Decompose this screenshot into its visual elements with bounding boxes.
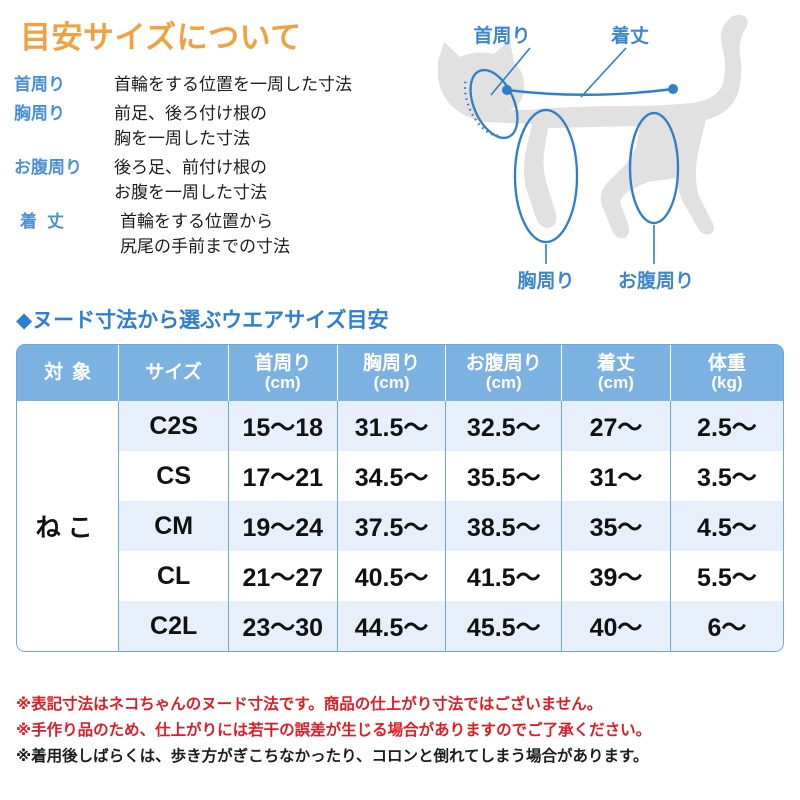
cell-weight: 6〜 [670,601,783,651]
cell-size: CM [119,501,229,551]
cell-neck: 17〜21 [228,451,337,501]
column-header-belly: お腹周り (cm) [446,345,562,401]
column-header-neck: 首周り (cm) [228,345,337,401]
column-header-weight-label: 体重 [708,353,746,374]
cell-length: 27〜 [562,401,671,451]
cell-length: 39〜 [562,551,671,601]
definition-desc-length: 首輪をする位置から 尻尾の手前までの寸法 [120,209,290,259]
cell-belly: 45.5〜 [446,601,562,651]
footnotes: ※表記寸法はネコちゃんのヌード寸法です。商品の仕上がり寸法ではございません。 ※… [16,692,794,770]
cell-length: 35〜 [562,501,671,551]
cell-belly: 38.5〜 [446,501,562,551]
definition-row: お腹周り 後ろ足、前付け根の お腹を一周した寸法 [14,155,404,205]
cell-chest: 34.5〜 [337,451,446,501]
table-row: CS 17〜21 34.5〜 35.5〜 31〜 3.5〜 [17,451,783,501]
column-header-size: サイズ [119,345,229,401]
table-header-row: 対象 サイズ 首周り (cm) 胸周り (cm) お腹周り [17,345,783,401]
size-table: 対象 サイズ 首周り (cm) 胸周り (cm) お腹周り [17,345,783,651]
column-header-length-unit: (cm) [562,374,670,392]
table-row: ねこ C2S 15〜18 31.5〜 32.5〜 27〜 2.5〜 [17,401,783,451]
definition-term-belly: お腹周り [14,155,114,180]
diagram-label-belly: お腹周り [618,269,694,292]
size-table-container: 対象 サイズ 首周り (cm) 胸周り (cm) お腹周り [16,344,784,652]
table-row: CL 21〜27 40.5〜 41.5〜 39〜 5.5〜 [17,551,783,601]
target-label-cell: ねこ [17,401,119,651]
cell-chest: 37.5〜 [337,501,446,551]
definition-row: 着丈 首輪をする位置から 尻尾の手前までの寸法 [14,209,404,259]
column-header-belly-unit: (cm) [446,374,561,392]
cell-neck: 15〜18 [228,401,337,451]
column-header-chest-label: 胸周り [363,353,420,374]
definition-term-chest: 胸周り [14,101,114,126]
column-header-chest-unit: (cm) [338,374,446,392]
definition-term-length: 着丈 [14,209,120,234]
diagram-label-chest: 胸周り [517,269,574,292]
cell-neck: 23〜30 [228,601,337,651]
definition-term-neck: 首周り [14,72,114,97]
cell-chest: 44.5〜 [337,601,446,651]
table-row: C2L 23〜30 44.5〜 45.5〜 40〜 6〜 [17,601,783,651]
cell-length: 40〜 [562,601,671,651]
diagram-label-length: 着丈 [611,24,649,47]
cell-size: C2L [119,601,229,651]
column-header-neck-unit: (cm) [229,374,337,392]
column-header-length: 着丈 (cm) [562,345,671,401]
cell-belly: 35.5〜 [446,451,562,501]
definition-desc-belly: 後ろ足、前付け根の お腹を一周した寸法 [114,155,267,205]
cell-weight: 2.5〜 [670,401,783,451]
cell-neck: 19〜24 [228,501,337,551]
measurement-definitions: 首周り 首輪をする位置を一周した寸法 胸周り 前足、後ろ付け根の 胸を一周した寸… [14,72,404,263]
column-header-weight: 体重 (kg) [670,345,783,401]
definition-row: 胸周り 前足、後ろ付け根の 胸を一周した寸法 [14,101,404,151]
cell-neck: 21〜27 [228,551,337,601]
cat-measurement-diagram: 首周り 着丈 胸周り お腹周り [398,2,800,302]
definition-row: 首周り 首輪をする位置を一周した寸法 [14,72,404,97]
cell-length: 31〜 [562,451,671,501]
column-header-target-label: 対象 [35,362,100,383]
column-header-target: 対象 [17,345,119,401]
length-leader-line [581,48,626,97]
length-measure-line [502,84,678,95]
cell-belly: 41.5〜 [446,551,562,601]
column-header-neck-label: 首周り [254,353,311,374]
column-header-length-label: 着丈 [597,353,635,374]
cell-weight: 3.5〜 [670,451,783,501]
definition-desc-neck: 首輪をする位置を一周した寸法 [114,72,352,97]
cell-size: CL [119,551,229,601]
footnote-1: ※表記寸法はネコちゃんのヌード寸法です。商品の仕上がり寸法ではございません。 [16,692,794,718]
cell-weight: 5.5〜 [670,551,783,601]
footnote-3: ※着用後しばらくは、歩き方がぎこちなかったり、コロンと倒れてしまう場合があります… [16,744,794,770]
table-heading: ◆ヌード寸法から選ぶウエアサイズ目安 [16,304,389,334]
column-header-weight-unit: (kg) [671,374,783,392]
size-guide-page: 目安サイズについて 首周り 首輪をする位置を一周した寸法 胸周り 前足、後ろ付け… [0,0,800,800]
cell-size: CS [119,451,229,501]
footnote-2: ※手作り品のため、仕上がりには若干の誤差が生じる場合がありますのでご了承ください… [16,718,794,744]
definition-desc-chest: 前足、後ろ付け根の 胸を一周した寸法 [114,101,267,151]
table-row: CM 19〜24 37.5〜 38.5〜 35〜 4.5〜 [17,501,783,551]
cell-size: C2S [119,401,229,451]
cell-chest: 40.5〜 [337,551,446,601]
cell-belly: 32.5〜 [446,401,562,451]
diagram-label-neck: 首周り [473,24,530,47]
page-title: 目安サイズについて [20,12,302,57]
column-header-size-label: サイズ [145,362,201,383]
column-header-chest: 胸周り (cm) [337,345,446,401]
column-header-belly-label: お腹周り [466,353,542,374]
cell-weight: 4.5〜 [670,501,783,551]
cell-chest: 31.5〜 [337,401,446,451]
